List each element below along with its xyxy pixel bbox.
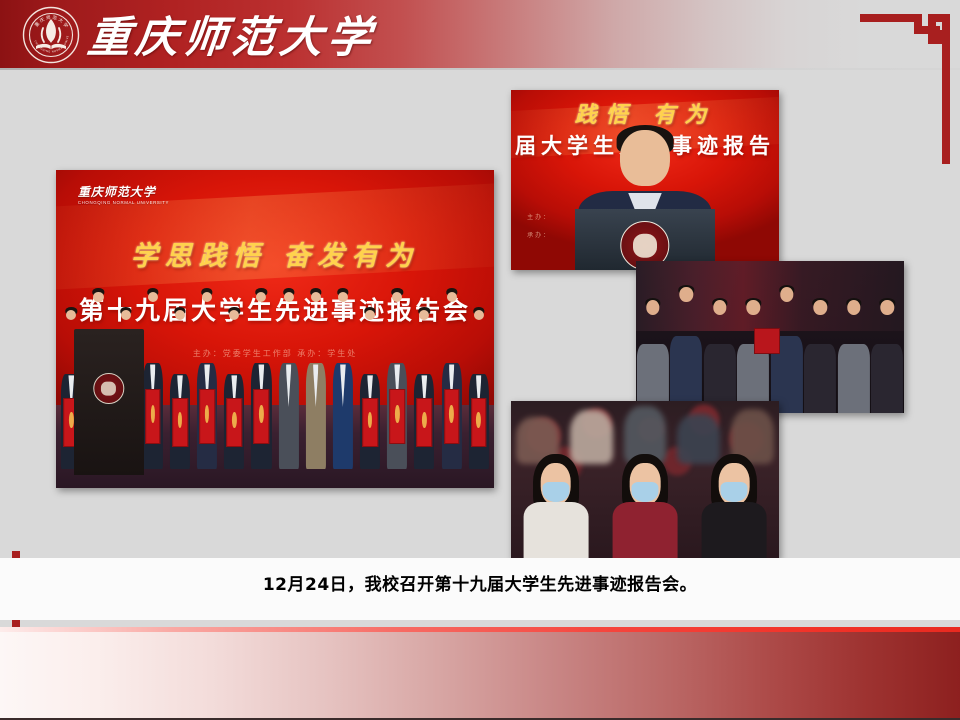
award-certificate [754, 328, 780, 354]
university-seal-icon: 重庆师范大学 CHONGQING NORMAL UNIVERSITY [22, 6, 80, 64]
banner-logo-cn: 重庆师范大学 [78, 185, 156, 199]
speaker-credit-1: 主办： [527, 212, 551, 221]
photo-speaker-at-podium[interactable]: 践悟 有为 届大学生先进事迹报告 主办： 承办： [511, 90, 779, 270]
bottom-gradient-band [0, 632, 960, 718]
podium-emblem-icon [93, 373, 124, 404]
audience-front-row [511, 445, 779, 559]
speaker-credit-2: 承办： [527, 230, 551, 239]
podium [74, 329, 144, 475]
caption-area: 12月24日，我校召开第十九届大学生先进事迹报告会。 [0, 558, 960, 620]
header-underline [0, 68, 960, 70]
slide-root: 重庆师范大学 CHONGQING NORMAL UNIVERSITY 重庆师范大… [0, 0, 960, 720]
banner-slogan-gold: 学思践悟 奋发有为 [56, 234, 494, 273]
photo-award-presentation[interactable] [636, 261, 904, 413]
banner-logo-en: CHONGQING NORMAL UNIVERSITY [78, 200, 169, 205]
university-wordmark: 重庆师范大学 [85, 4, 379, 64]
photo-audience-seated[interactable] [511, 401, 779, 559]
slide-caption: 12月24日，我校召开第十九届大学生先进事迹报告会。 [0, 570, 960, 595]
speaker-banner-gold: 践悟 有为 [511, 97, 779, 129]
corner-ornament-top-right [860, 6, 956, 177]
photo-group-award-ceremony[interactable]: 重庆师范大学 CHONGQING NORMAL UNIVERSITY 学思践悟 … [56, 170, 494, 488]
banner-university-logo: 重庆师范大学 CHONGQING NORMAL UNIVERSITY [78, 183, 169, 205]
